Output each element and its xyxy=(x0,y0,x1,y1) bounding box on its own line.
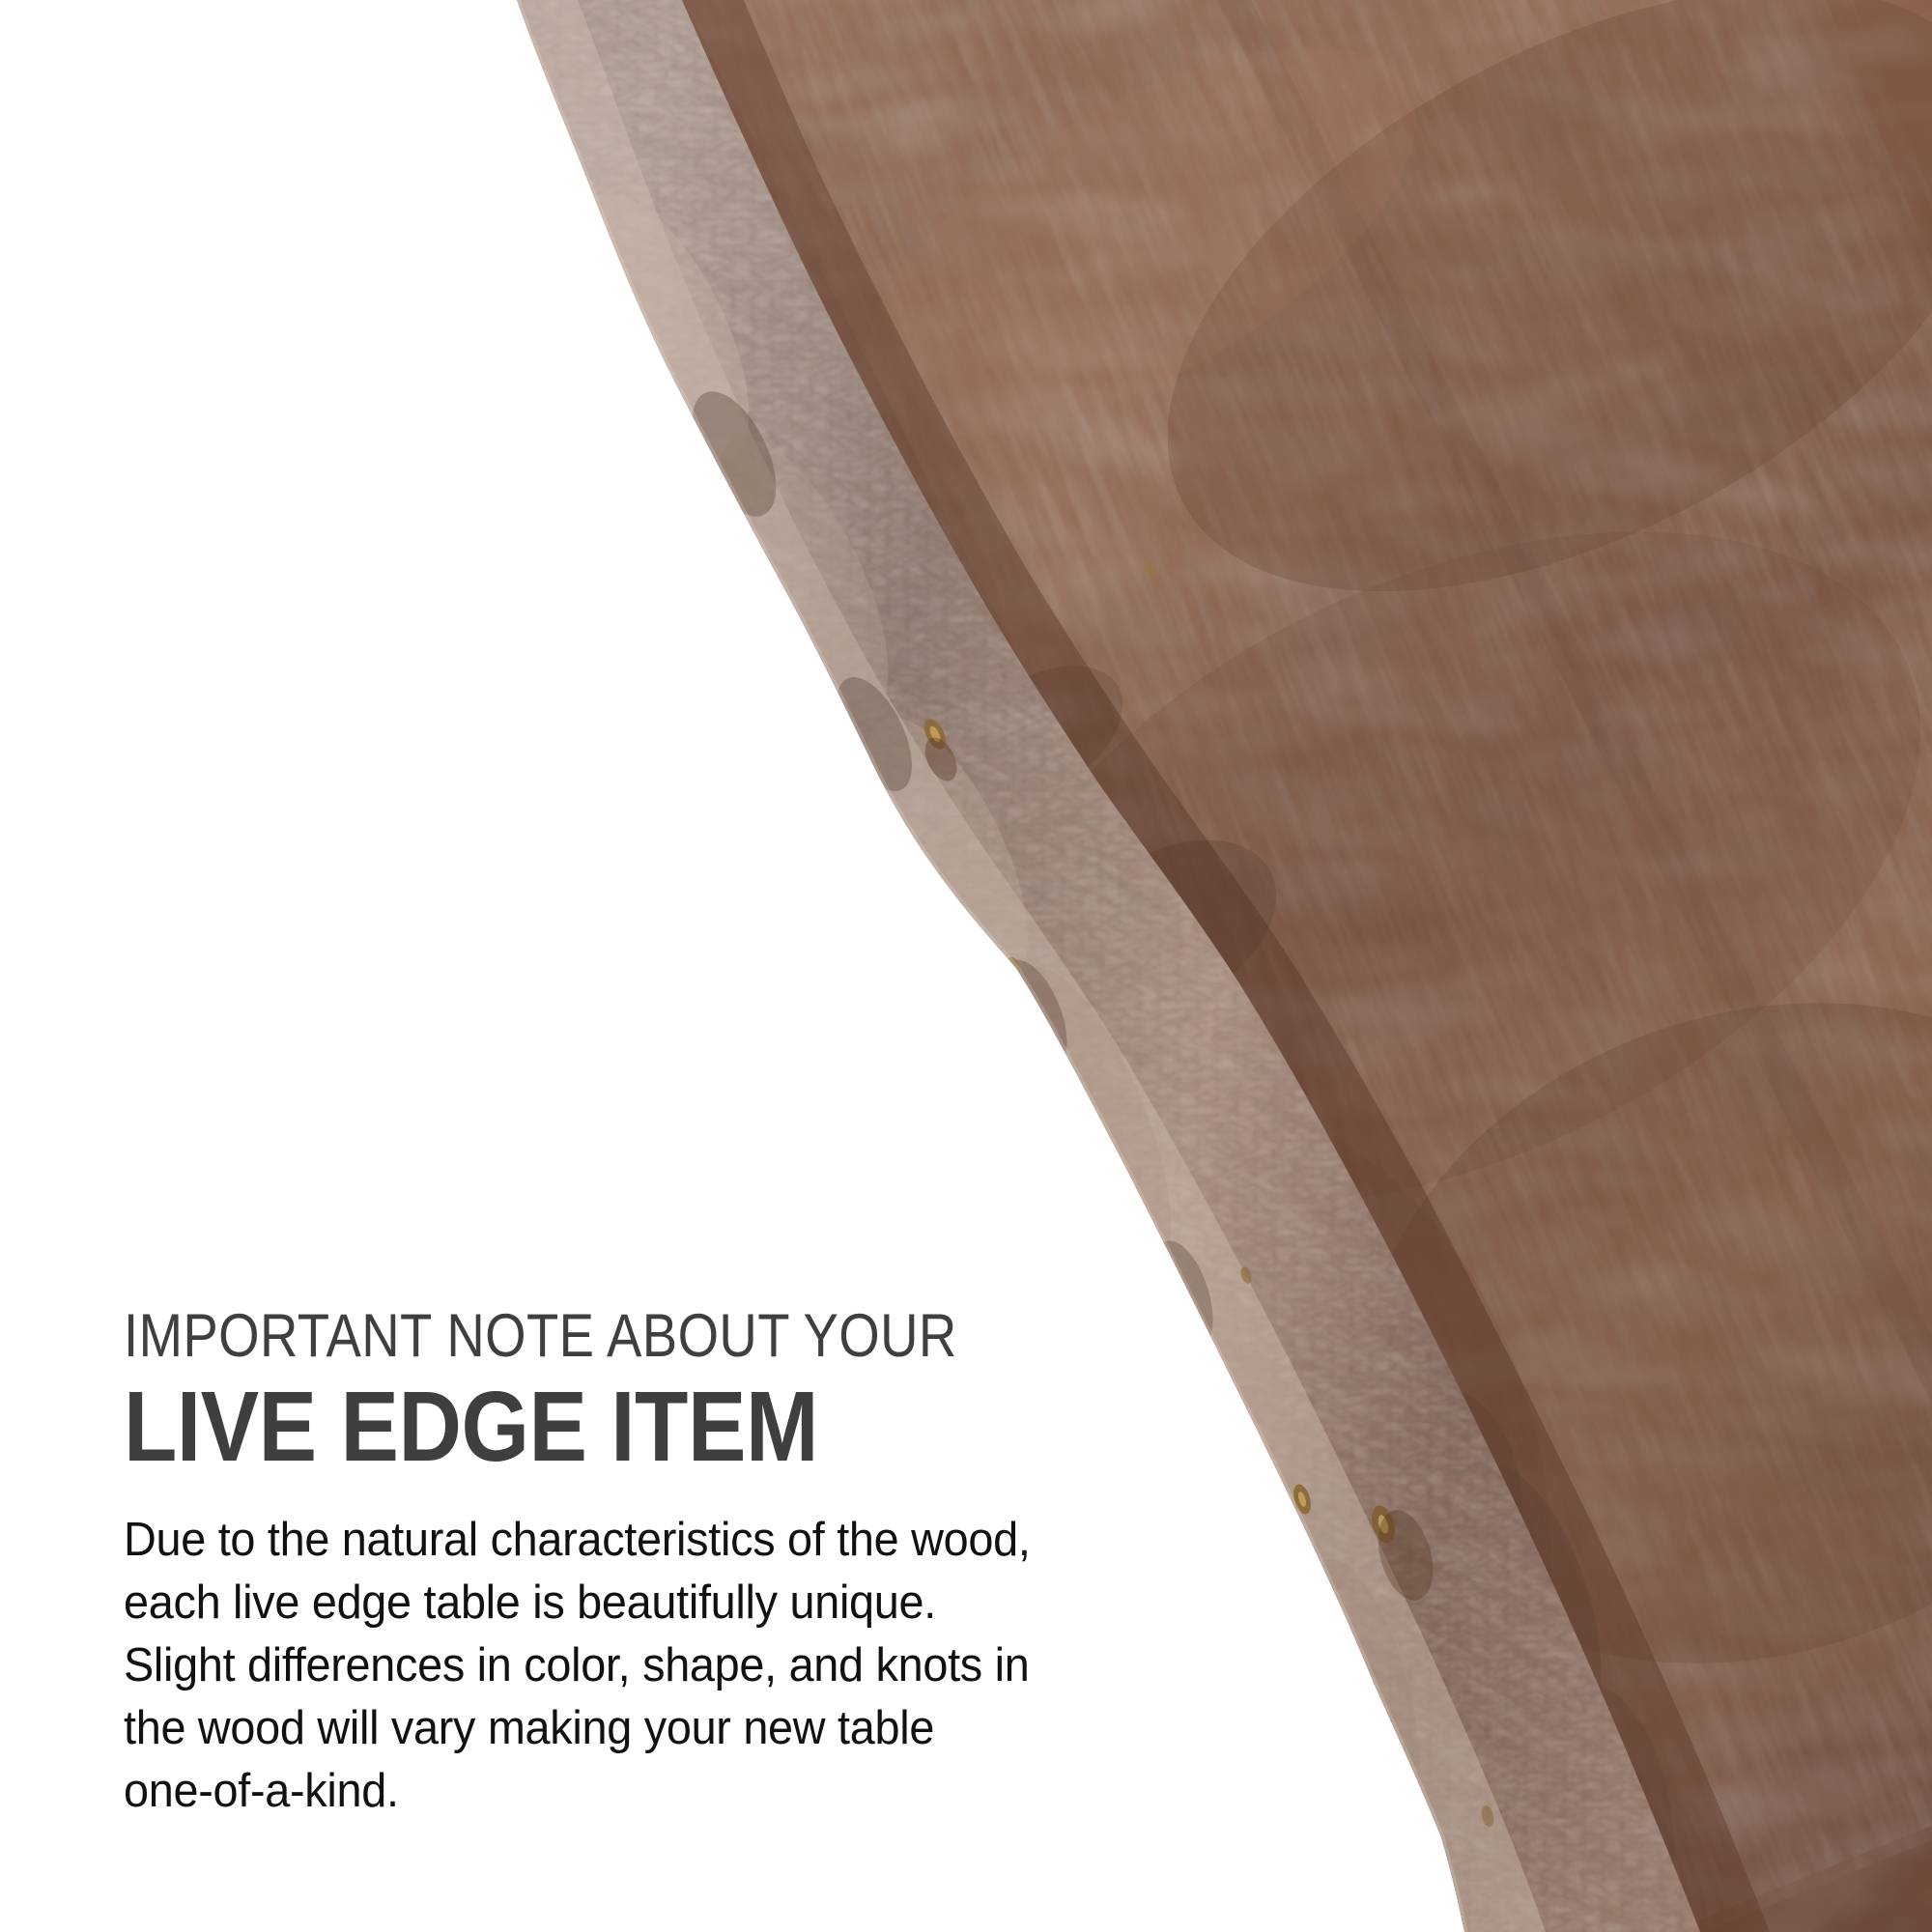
body-line: the wood will vary making your new table xyxy=(124,1697,1065,1760)
body-line: Due to the natural characteristics of th… xyxy=(124,1509,1065,1572)
note-body-copy: Due to the natural characteristics of th… xyxy=(124,1509,1109,1823)
note-headline: LIVE EDGE ITEM xyxy=(124,1377,991,1476)
body-line: each live edge table is beautifully uniq… xyxy=(124,1572,1065,1634)
body-line: one-of-a-kind. xyxy=(124,1760,1065,1823)
note-text-block: IMPORTANT NOTE ABOUT YOUR LIVE EDGE ITEM… xyxy=(124,1306,1109,1823)
body-line: Slight differences in color, shape, and … xyxy=(124,1634,1065,1697)
note-eyebrow: IMPORTANT NOTE ABOUT YOUR xyxy=(124,1306,976,1367)
live-edge-info-card: IMPORTANT NOTE ABOUT YOUR LIVE EDGE ITEM… xyxy=(0,0,1932,1932)
